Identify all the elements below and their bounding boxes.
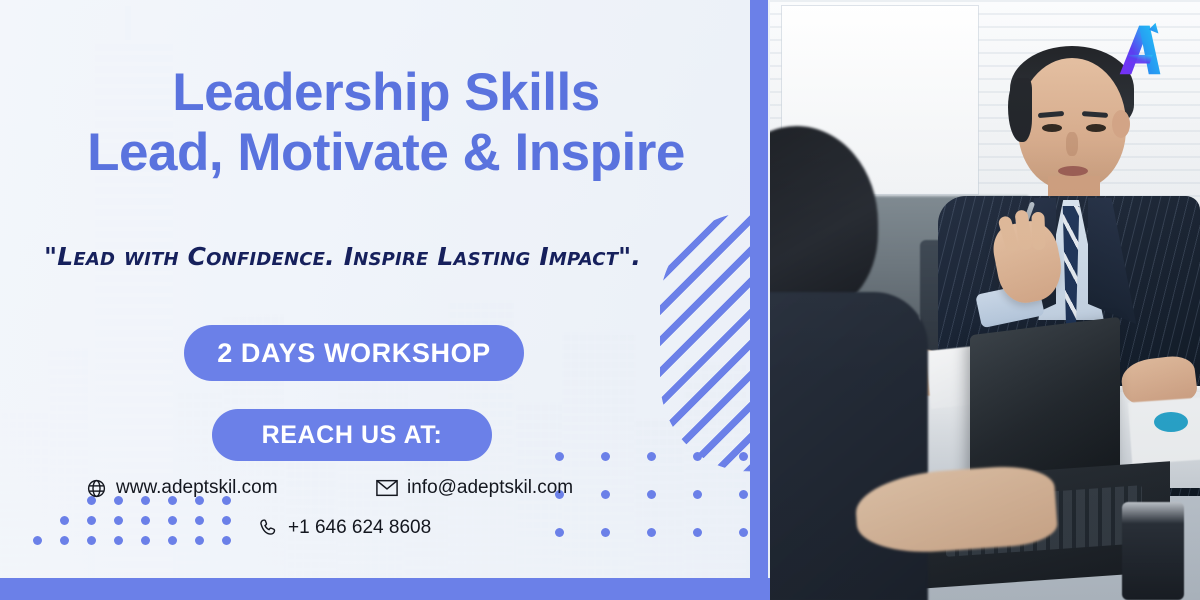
contact-phone[interactable]: +1 646 624 8608	[259, 517, 431, 539]
workshop-badge-label: 2 DAYS WORKSHOP	[217, 338, 491, 369]
promotional-banner: Leadership Skills Lead, Motivate & Inspi…	[0, 0, 1200, 600]
reach-us-badge[interactable]: REACH US AT:	[212, 409, 492, 461]
contact-website[interactable]: www.adeptskil.com	[86, 477, 278, 499]
reach-us-badge-label: REACH US AT:	[262, 421, 443, 450]
contact-email[interactable]: info@adeptskil.com	[376, 477, 573, 499]
website-text: www.adeptskil.com	[116, 477, 278, 499]
content-stack: Leadership Skills Lead, Motivate & Inspi…	[0, 0, 770, 600]
phone-icon	[259, 518, 279, 538]
meeting-photo	[770, 0, 1200, 600]
phone-text: +1 646 624 8608	[288, 517, 431, 539]
page-title: Leadership Skills Lead, Motivate & Inspi…	[28, 66, 744, 180]
tagline: "Lead with Confidence. Inspire Lasting I…	[44, 242, 744, 271]
globe-icon	[86, 478, 107, 499]
left-content-panel: Leadership Skills Lead, Motivate & Inspi…	[0, 0, 770, 600]
adeptskil-a-logo	[1110, 18, 1172, 80]
headline-line-1: Leadership Skills	[28, 66, 744, 120]
email-text: info@adeptskil.com	[407, 477, 573, 499]
workshop-badge[interactable]: 2 DAYS WORKSHOP	[184, 325, 524, 381]
headline-line-2: Lead, Motivate & Inspire	[28, 126, 744, 180]
envelope-icon	[376, 479, 398, 497]
